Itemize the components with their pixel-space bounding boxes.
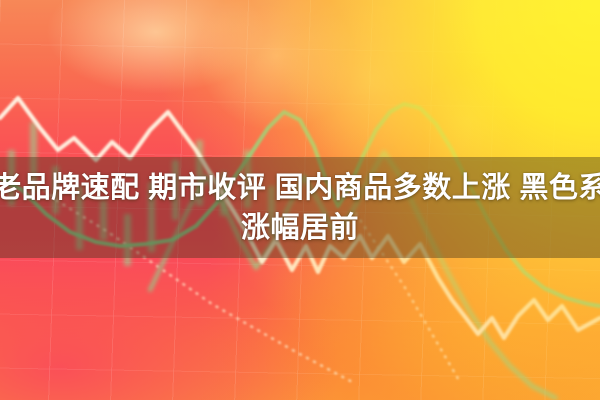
- headline-block: 老品牌速配 期市收评 国内商品多数上涨 黑色系 涨幅居前: [0, 157, 600, 258]
- headline-line-2: 涨幅居前: [241, 210, 359, 246]
- headline-line-1: 老品牌速配 期市收评 国内商品多数上涨 黑色系: [0, 170, 600, 206]
- news-banner-image: 老品牌速配 期市收评 国内商品多数上涨 黑色系 涨幅居前: [0, 0, 600, 400]
